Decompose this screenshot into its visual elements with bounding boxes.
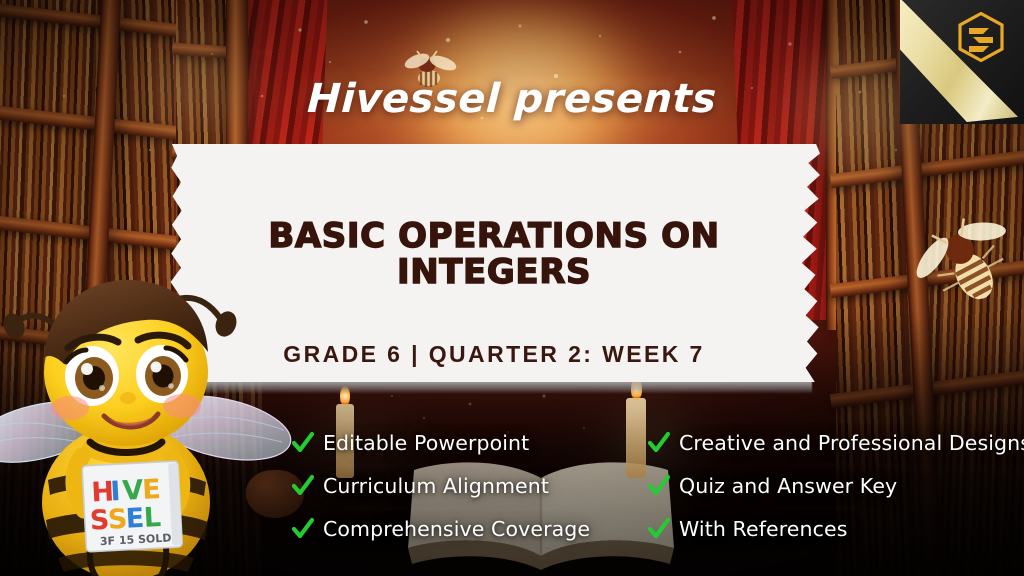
svg-text:E: E [125, 503, 145, 535]
check-icon [648, 517, 670, 541]
list-item: Comprehensive Coverage [292, 510, 622, 547]
check-icon [292, 474, 314, 498]
list-item: With References [648, 510, 1024, 547]
bee-mascot-icon: H I V E S S E L 3F 15 SOLD [0, 252, 292, 576]
svg-text:I: I [110, 476, 122, 507]
feature-list: Editable Powerpoint Curriculum Alignment… [292, 424, 1024, 547]
svg-text:L: L [143, 502, 162, 534]
feature-column-left: Editable Powerpoint Curriculum Alignment… [292, 424, 622, 547]
feature-label: With References [679, 517, 847, 541]
mascot-head [44, 280, 208, 446]
presents-heading: Hivessel presents [0, 76, 1024, 122]
hexagon-logo-icon[interactable] [958, 12, 1004, 62]
check-icon [292, 431, 314, 455]
list-item: Quiz and Answer Key [648, 467, 1024, 504]
bee-icon-right [916, 216, 1020, 314]
check-icon [292, 517, 314, 541]
check-icon [648, 474, 670, 498]
presents-text: Hivessel presents [306, 76, 718, 122]
feature-label: Curriculum Alignment [323, 474, 549, 498]
feature-label: Quiz and Answer Key [679, 474, 897, 498]
check-icon [648, 431, 670, 455]
feature-label: Creative and Professional Designs [679, 431, 1024, 455]
list-item: Editable Powerpoint [292, 424, 622, 461]
feature-label: Comprehensive Coverage [323, 517, 590, 541]
mascot-book: H I V E S S E L 3F 15 SOLD [82, 461, 182, 552]
feature-label: Editable Powerpoint [323, 431, 529, 455]
presentation-cover-slide: Hivessel presents BASIC OPERATIONS ON IN… [0, 0, 1024, 576]
list-item: Creative and Professional Designs [648, 424, 1024, 461]
feature-column-right: Creative and Professional Designs Quiz a… [648, 424, 1024, 547]
list-item: Curriculum Alignment [292, 467, 622, 504]
